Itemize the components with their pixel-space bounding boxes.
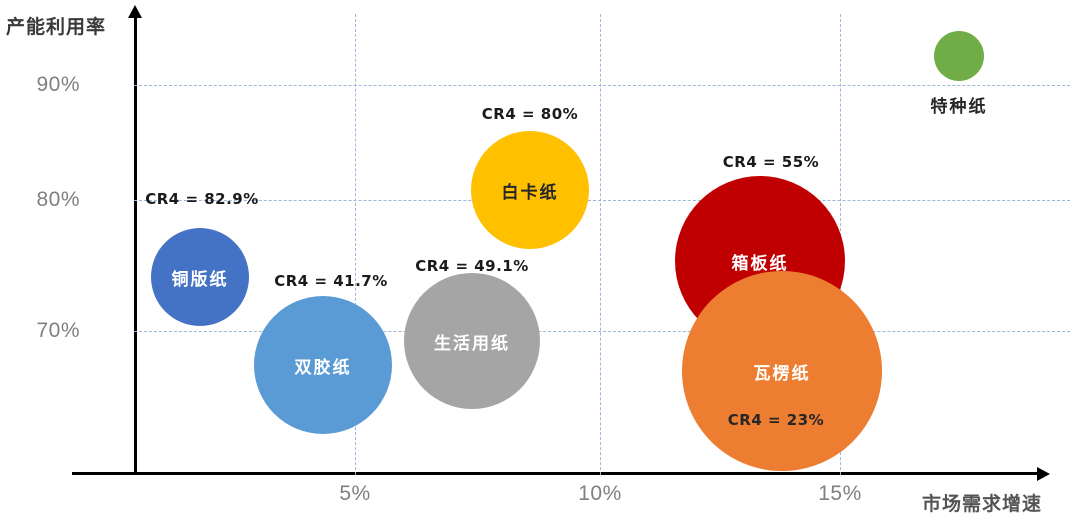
bubble-name-label: 双胶纸 <box>295 353 352 378</box>
bubble-name-label: 特种纸 <box>931 92 988 117</box>
bubble-name-label: 白卡纸 <box>502 178 559 203</box>
bubble-铜版纸[interactable]: 铜版纸 <box>151 228 249 326</box>
gridline-horizontal <box>134 85 1070 86</box>
y-axis-arrow-icon <box>128 5 142 18</box>
bubble-cr4-label: CR4 = 23% <box>728 411 824 429</box>
x-axis-arrow-icon <box>1037 467 1050 481</box>
y-axis-tick-label: 70% <box>0 319 80 343</box>
gridline-vertical <box>600 14 601 475</box>
bubble-特种纸[interactable] <box>934 31 984 81</box>
bubble-cr4-label: CR4 = 49.1% <box>415 257 529 275</box>
bubble-生活用纸[interactable]: 生活用纸 <box>404 273 540 409</box>
gridline-horizontal <box>134 200 1070 201</box>
bubble-name-label: 瓦楞纸 <box>754 359 811 384</box>
y-axis-line <box>134 14 137 475</box>
x-axis-title: 市场需求增速 <box>922 489 1042 516</box>
x-axis-tick-label: 10% <box>540 482 660 506</box>
y-axis-tick-label: 80% <box>0 188 80 212</box>
bubble-cr4-label: CR4 = 55% <box>723 153 819 171</box>
bubble-瓦楞纸[interactable]: 瓦楞纸 <box>682 271 882 471</box>
bubble-白卡纸[interactable]: 白卡纸 <box>471 131 589 249</box>
x-axis-line <box>72 472 1042 475</box>
x-axis-tick-label: 15% <box>780 482 900 506</box>
bubble-cr4-label: CR4 = 41.7% <box>274 272 388 290</box>
bubble-name-label: 生活用纸 <box>434 329 510 354</box>
bubble-cr4-label: CR4 = 82.9% <box>145 190 259 208</box>
bubble-name-label: 铜版纸 <box>172 265 229 290</box>
y-axis-tick-label: 90% <box>0 73 80 97</box>
bubble-双胶纸[interactable]: 双胶纸 <box>254 296 392 434</box>
bubble-name-label: 箱板纸 <box>732 249 789 274</box>
x-axis-tick-label: 5% <box>295 482 415 506</box>
bubble-chart-canvas: 产能利用率 市场需求增速 90%80%70%5%10%15% 铜版纸CR4 = … <box>0 0 1080 528</box>
y-axis-title: 产能利用率 <box>6 12 106 39</box>
bubble-cr4-label: CR4 = 80% <box>482 105 578 123</box>
